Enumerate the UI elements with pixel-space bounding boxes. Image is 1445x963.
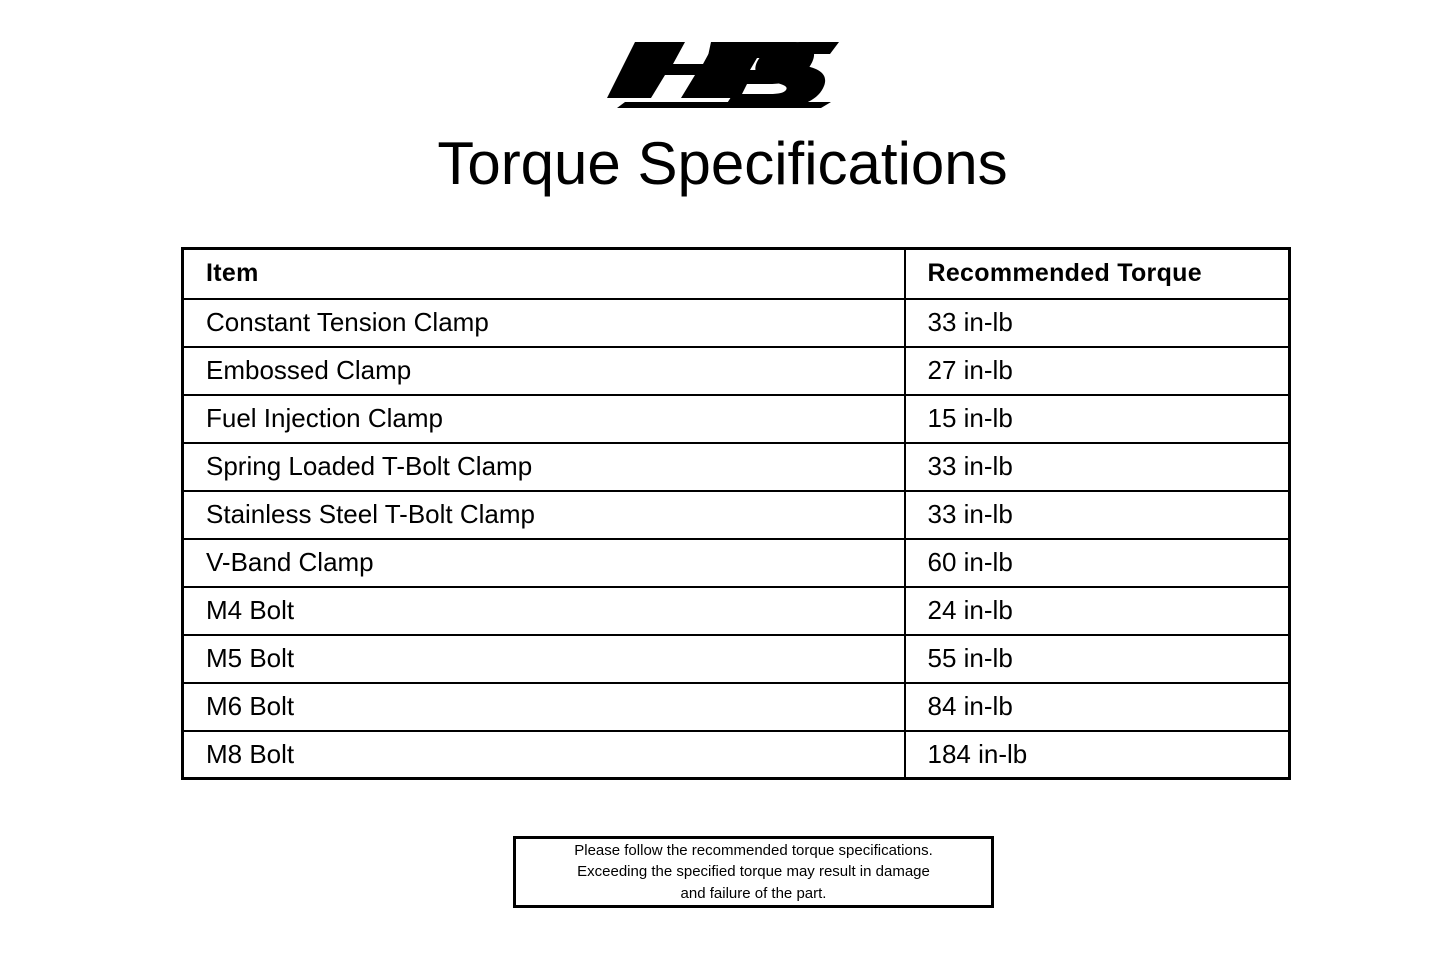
cell-torque: 55 in-lb: [905, 635, 1290, 683]
table-body: Constant Tension Clamp 33 in-lb Embossed…: [183, 299, 1290, 779]
page-title: Torque Specifications: [0, 132, 1445, 197]
table-row: M8 Bolt 184 in-lb: [183, 731, 1290, 779]
cell-item: Constant Tension Clamp: [183, 299, 905, 347]
table-row: M6 Bolt 84 in-lb: [183, 683, 1290, 731]
cell-item: V-Band Clamp: [183, 539, 905, 587]
hps-logo-icon: [607, 36, 839, 108]
cell-torque: 27 in-lb: [905, 347, 1290, 395]
cell-item: M8 Bolt: [183, 731, 905, 779]
torque-spec-table: Item Recommended Torque Constant Tension…: [181, 247, 1291, 780]
note-line-3: and failure of the part.: [681, 883, 827, 904]
table-row: V-Band Clamp 60 in-lb: [183, 539, 1290, 587]
cell-torque: 33 in-lb: [905, 491, 1290, 539]
table-row: Stainless Steel T-Bolt Clamp 33 in-lb: [183, 491, 1290, 539]
cell-torque: 184 in-lb: [905, 731, 1290, 779]
cell-item: Embossed Clamp: [183, 347, 905, 395]
cell-item: Stainless Steel T-Bolt Clamp: [183, 491, 905, 539]
table-header-row: Item Recommended Torque: [183, 249, 1290, 299]
table-row: Spring Loaded T-Bolt Clamp 33 in-lb: [183, 443, 1290, 491]
cell-item: M4 Bolt: [183, 587, 905, 635]
cell-item: M6 Bolt: [183, 683, 905, 731]
cell-torque: 24 in-lb: [905, 587, 1290, 635]
table-row: Embossed Clamp 27 in-lb: [183, 347, 1290, 395]
cell-torque: 33 in-lb: [905, 443, 1290, 491]
note-line-1: Please follow the recommended torque spe…: [574, 840, 933, 861]
cell-torque: 84 in-lb: [905, 683, 1290, 731]
cell-item: M5 Bolt: [183, 635, 905, 683]
table-row: M4 Bolt 24 in-lb: [183, 587, 1290, 635]
table-row: Fuel Injection Clamp 15 in-lb: [183, 395, 1290, 443]
column-header-torque: Recommended Torque: [905, 249, 1290, 299]
note-line-2: Exceeding the specified torque may resul…: [577, 861, 930, 882]
cell-item: Spring Loaded T-Bolt Clamp: [183, 443, 905, 491]
hps-logo: [0, 32, 1445, 112]
cell-torque: 60 in-lb: [905, 539, 1290, 587]
torque-specifications-document: Torque Specifications Item Recommended T…: [0, 0, 1445, 963]
cell-torque: 15 in-lb: [905, 395, 1290, 443]
table-row: Constant Tension Clamp 33 in-lb: [183, 299, 1290, 347]
column-header-item: Item: [183, 249, 905, 299]
cell-torque: 33 in-lb: [905, 299, 1290, 347]
table-row: M5 Bolt 55 in-lb: [183, 635, 1290, 683]
warning-note-box: Please follow the recommended torque spe…: [513, 836, 994, 908]
cell-item: Fuel Injection Clamp: [183, 395, 905, 443]
